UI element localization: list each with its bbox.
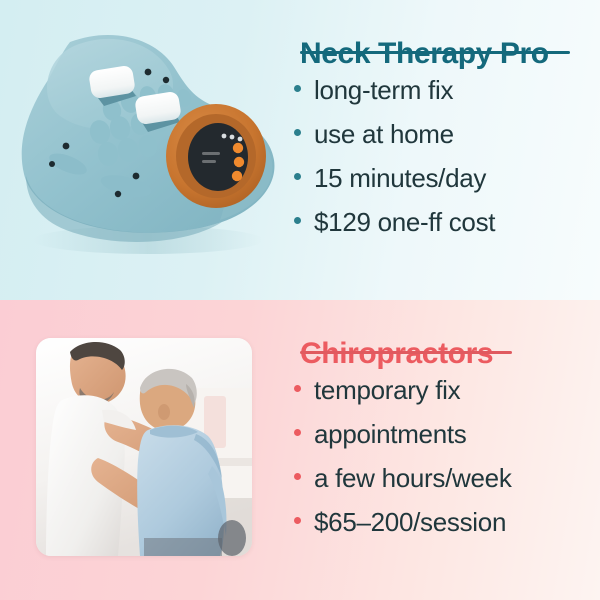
chiropractor-photo [36,338,252,556]
list-item: 15 minutes/day [294,156,495,200]
product-heading-underline [300,51,570,54]
list-item: temporary fix [294,368,512,412]
list-item: $129 one-ff cost [294,200,495,244]
list-item: long-term fix [294,68,495,112]
chiro-drawback-list: temporary fix appointments a few hours/w… [294,368,512,544]
bullet-dot-icon [294,85,301,92]
bullet-dot-icon [294,429,301,436]
bullet-dot-icon [294,173,301,180]
bullet-dot-icon [294,129,301,136]
bullet-dot-icon [294,217,301,224]
list-item-label: use at home [314,112,454,156]
chiro-heading-underline [300,351,512,354]
list-item: $65–200/session [294,500,512,544]
control-panel-icon [166,104,266,208]
chiropractor-section: Chiropractors temporary fix appointments… [0,300,600,600]
neck-therapy-device-image [8,24,284,274]
list-item-label: 15 minutes/day [314,156,486,200]
product-media-column [0,0,290,300]
bullet-dot-icon [294,517,301,524]
chiro-media-column [0,300,290,600]
bullet-dot-icon [294,385,301,392]
list-item-label: $65–200/session [314,500,506,544]
product-section: Neck Therapy Pro long-term fix use at ho… [0,0,600,300]
list-item-label: a few hours/week [314,456,512,500]
product-benefit-list: long-term fix use at home 15 minutes/day… [294,68,495,244]
list-item-label: appointments [314,412,467,456]
list-item: use at home [294,112,495,156]
list-item-label: temporary fix [314,368,460,412]
chiro-text-column: Chiropractors temporary fix appointments… [290,300,600,600]
list-item: appointments [294,412,512,456]
list-item: a few hours/week [294,456,512,500]
list-item-label: long-term fix [314,68,453,112]
comparison-poster: Neck Therapy Pro long-term fix use at ho… [0,0,600,600]
product-text-column: Neck Therapy Pro long-term fix use at ho… [290,0,600,300]
list-item-label: $129 one-ff cost [314,200,495,244]
bullet-dot-icon [294,473,301,480]
